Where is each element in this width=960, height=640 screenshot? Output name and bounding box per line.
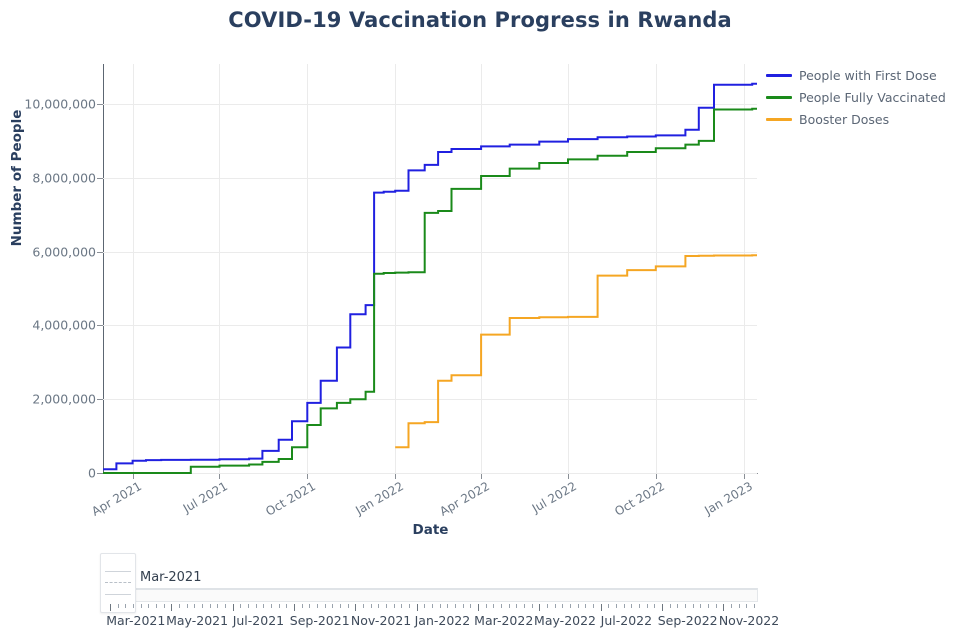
range-slider-minor-tick xyxy=(616,604,617,608)
range-slider-minor-tick xyxy=(394,604,395,608)
range-slider-minor-tick xyxy=(547,604,548,608)
range-slider-minor-tick xyxy=(493,604,494,608)
range-slider-minor-tick xyxy=(202,604,203,608)
range-slider-minor-tick xyxy=(179,604,180,608)
range-slider-minor-tick xyxy=(386,604,387,608)
range-slider-minor-tick xyxy=(685,604,686,608)
range-slider-ticks xyxy=(103,604,758,612)
range-slider-minor-tick xyxy=(631,604,632,608)
gridline-vertical xyxy=(395,64,396,473)
range-slider-minor-tick xyxy=(325,604,326,608)
x-tick-mark xyxy=(219,474,220,479)
x-tick-mark xyxy=(307,474,308,479)
range-slider-minor-tick xyxy=(240,604,241,608)
range-slider-minor-tick xyxy=(608,604,609,608)
range-slider-minor-tick xyxy=(256,604,257,608)
range-slider-minor-tick xyxy=(585,604,586,608)
range-slider-minor-tick xyxy=(279,604,280,608)
range-slider-minor-tick xyxy=(217,604,218,608)
range-slider-minor-tick xyxy=(447,604,448,608)
chart-page: COVID-19 Vaccination Progress in Rwanda … xyxy=(0,0,960,640)
gridline-horizontal xyxy=(103,178,757,179)
range-slider-tick-label: Jul-2021 xyxy=(233,613,284,628)
range-slider-minor-tick xyxy=(624,604,625,608)
range-slider-minor-tick xyxy=(754,604,755,608)
range-slider-minor-tick xyxy=(509,604,510,608)
y-tick-label: 2,000,000 xyxy=(0,392,96,407)
range-slider-minor-tick xyxy=(309,604,310,608)
range-slider-minor-tick xyxy=(271,604,272,608)
x-axis-title: Date xyxy=(103,522,758,538)
legend: People with First DosePeople Fully Vacci… xyxy=(766,64,956,130)
range-slider-track[interactable] xyxy=(103,588,758,602)
y-tick-mark xyxy=(97,104,103,105)
range-slider-tick-label: Nov-2021 xyxy=(351,613,411,628)
range-slider-minor-tick xyxy=(647,604,648,608)
range-slider-minor-tick xyxy=(317,604,318,608)
gridline-vertical xyxy=(656,64,657,473)
gridline-vertical xyxy=(481,64,482,473)
range-slider-minor-tick xyxy=(125,604,126,608)
range-slider-major-tick xyxy=(355,604,356,611)
range-slider-minor-tick xyxy=(731,604,732,608)
gridline-horizontal xyxy=(103,325,757,326)
range-slider-minor-tick xyxy=(424,604,425,608)
range-slider-minor-tick xyxy=(463,604,464,608)
range-slider-tick-label: Jan-2022 xyxy=(415,613,471,628)
legend-item-label: People Fully Vaccinated xyxy=(799,90,946,105)
y-tick-mark xyxy=(97,399,103,400)
range-slider-minor-tick xyxy=(501,604,502,608)
gridline-vertical xyxy=(568,64,569,473)
range-slider-minor-tick xyxy=(118,604,119,608)
plot-area xyxy=(103,64,757,473)
range-slider-tick-label: May-2022 xyxy=(534,613,596,628)
x-tick-mark xyxy=(481,474,482,479)
range-slider-minor-tick xyxy=(210,604,211,608)
range-slider-major-tick xyxy=(723,604,724,611)
range-slider-minor-tick xyxy=(409,604,410,608)
range-slider-minor-tick xyxy=(516,604,517,608)
range-slider-minor-tick xyxy=(440,604,441,608)
gridline-horizontal xyxy=(103,252,757,253)
range-slider-minor-tick xyxy=(263,604,264,608)
gridline-vertical xyxy=(219,64,220,473)
y-tick-mark xyxy=(97,178,103,179)
range-slider-minor-tick xyxy=(148,604,149,608)
legend-item-label: Booster Doses xyxy=(799,112,889,127)
range-slider-tick-label: Mar-2022 xyxy=(474,613,533,628)
range-slider-minor-tick xyxy=(401,604,402,608)
legend-item[interactable]: People Fully Vaccinated xyxy=(766,86,956,108)
range-slider-minor-tick xyxy=(654,604,655,608)
range-slider-minor-tick xyxy=(340,604,341,608)
range-slider-minor-tick xyxy=(141,604,142,608)
range-slider-minor-tick xyxy=(378,604,379,608)
range-slider-value-label: Mar-2021 xyxy=(140,570,201,585)
range-slider-minor-tick xyxy=(708,604,709,608)
range-slider-minor-tick xyxy=(570,604,571,608)
range-slider-minor-tick xyxy=(677,604,678,608)
range-slider-minor-tick xyxy=(470,604,471,608)
legend-swatch-icon xyxy=(766,118,792,121)
range-slider-major-tick xyxy=(601,604,602,611)
range-slider-minor-tick xyxy=(363,604,364,608)
range-slider-major-tick xyxy=(171,604,172,611)
range-slider-minor-tick xyxy=(578,604,579,608)
handle-line-top xyxy=(105,571,131,572)
range-slider-tick-label: Sep-2021 xyxy=(290,613,350,628)
range-slider-minor-tick xyxy=(746,604,747,608)
range-slider-minor-tick xyxy=(133,604,134,608)
legend-swatch-icon xyxy=(766,96,792,99)
y-axis-title: Number of People xyxy=(9,83,25,273)
gridline-horizontal xyxy=(103,473,757,474)
x-tick-mark xyxy=(568,474,569,479)
x-tick-mark xyxy=(133,474,134,479)
range-slider-major-tick xyxy=(294,604,295,611)
range-slider-major-tick xyxy=(110,604,111,611)
range-slider-minor-tick xyxy=(555,604,556,608)
range-slider-minor-tick xyxy=(348,604,349,608)
range-slider-minor-tick xyxy=(670,604,671,608)
range-slider-minor-tick xyxy=(562,604,563,608)
range-slider-tick-label: Sep-2022 xyxy=(658,613,718,628)
range-slider-minor-tick xyxy=(194,604,195,608)
range-slider-tick-label: Mar-2021 xyxy=(106,613,165,628)
y-tick-label: 4,000,000 xyxy=(0,318,96,333)
x-tick-mark xyxy=(395,474,396,479)
x-tick-mark xyxy=(656,474,657,479)
range-slider-minor-tick xyxy=(432,604,433,608)
range-slider-minor-tick xyxy=(455,604,456,608)
range-slider-minor-tick xyxy=(739,604,740,608)
range-slider-minor-tick xyxy=(639,604,640,608)
y-tick-mark xyxy=(97,252,103,253)
gridline-vertical xyxy=(307,64,308,473)
legend-item[interactable]: People with First Dose xyxy=(766,64,956,86)
range-slider-minor-tick xyxy=(486,604,487,608)
y-tick-mark xyxy=(97,325,103,326)
range-slider-minor-tick xyxy=(716,604,717,608)
legend-item[interactable]: Booster Doses xyxy=(766,108,956,130)
handle-line-bottom xyxy=(105,594,131,595)
range-slider-minor-tick xyxy=(371,604,372,608)
range-slider-minor-tick xyxy=(286,604,287,608)
range-slider-tick-label: Nov-2022 xyxy=(719,613,779,628)
range-slider-major-tick xyxy=(539,604,540,611)
range-slider-major-tick xyxy=(233,604,234,611)
range-slider-major-tick xyxy=(478,604,479,611)
page-title: COVID-19 Vaccination Progress in Rwanda xyxy=(0,8,960,32)
legend-item-label: People with First Dose xyxy=(799,68,937,83)
y-tick-mark xyxy=(97,473,103,474)
range-slider-minor-tick xyxy=(693,604,694,608)
range-slider-minor-tick xyxy=(532,604,533,608)
legend-swatch-icon xyxy=(766,74,792,77)
range-slider-minor-tick xyxy=(156,604,157,608)
gridline-vertical xyxy=(133,64,134,473)
gridline-vertical xyxy=(744,64,745,473)
range-slider-minor-tick xyxy=(164,604,165,608)
range-slider-minor-tick xyxy=(700,604,701,608)
range-slider-minor-tick xyxy=(248,604,249,608)
range-slider-minor-tick xyxy=(332,604,333,608)
x-tick-mark xyxy=(744,474,745,479)
range-slider-major-tick xyxy=(662,604,663,611)
handle-line-middle xyxy=(105,582,131,584)
range-slider-minor-tick xyxy=(302,604,303,608)
range-slider-minor-tick xyxy=(593,604,594,608)
y-tick-label: 0 xyxy=(0,466,96,481)
range-slider-tick-label: Jul-2022 xyxy=(601,613,652,628)
range-slider-minor-tick xyxy=(225,604,226,608)
range-slider-tick-label: May-2021 xyxy=(166,613,228,628)
gridline-horizontal xyxy=(103,104,757,105)
range-slider-minor-tick xyxy=(524,604,525,608)
range-slider-major-tick xyxy=(417,604,418,611)
range-slider-minor-tick xyxy=(187,604,188,608)
gridline-horizontal xyxy=(103,399,757,400)
